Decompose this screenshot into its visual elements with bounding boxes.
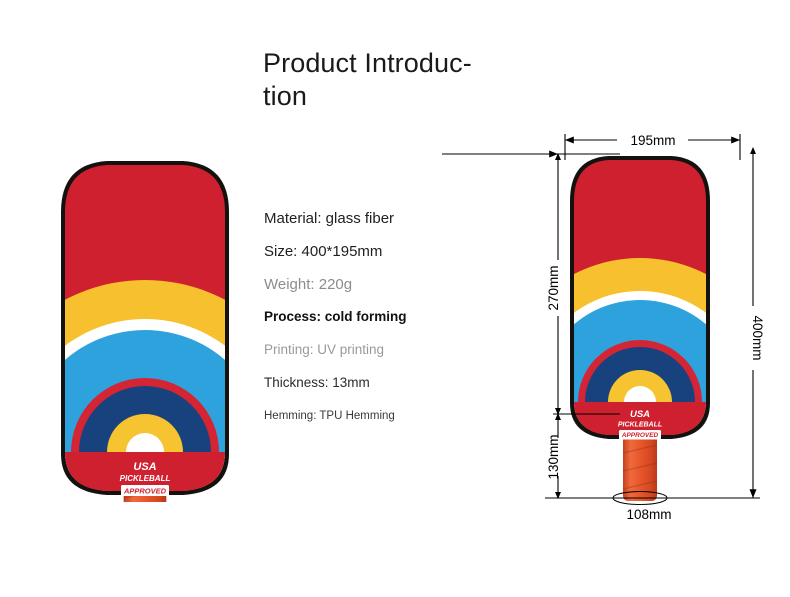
technical-dimension-drawing: 195mm 270mm 130mm 400mm 108mm: [525, 120, 785, 530]
badge-line-pickleball: PICKLEBALL: [120, 474, 171, 483]
dim-label-handle-length: 130mm: [546, 434, 561, 479]
badge-line-usa: USA: [133, 461, 156, 473]
spec-row: Size: 400*195mm: [264, 243, 382, 260]
spec-row: Weight: 220g: [264, 276, 352, 293]
page-title: Product Introduc- tion: [263, 47, 513, 113]
dim-label-total-length: 400mm: [750, 315, 765, 360]
spec-row: Material: glass fiber: [264, 210, 394, 227]
paddle-illustration-large: USA PICKLEBALL APPROVED: [52, 152, 238, 502]
dim-label-face-height: 270mm: [546, 265, 561, 310]
paddle-face-large: [52, 152, 238, 502]
dimension-arrowheads: [555, 147, 756, 499]
spec-row: Thickness: 13mm: [264, 375, 370, 390]
page-title-line2: tion: [263, 80, 513, 113]
badge-line-approved: APPROVED: [123, 487, 167, 496]
page-title-line1: Product Introduc-: [263, 47, 513, 80]
spec-row: Printing: UV printing: [264, 342, 384, 357]
dim-label-width: 195mm: [630, 133, 675, 148]
spec-row: Hemming: TPU Hemming: [264, 410, 395, 422]
spec-row: Process: cold forming: [264, 309, 407, 324]
dim-label-grip-circumference: 108mm: [626, 507, 671, 522]
